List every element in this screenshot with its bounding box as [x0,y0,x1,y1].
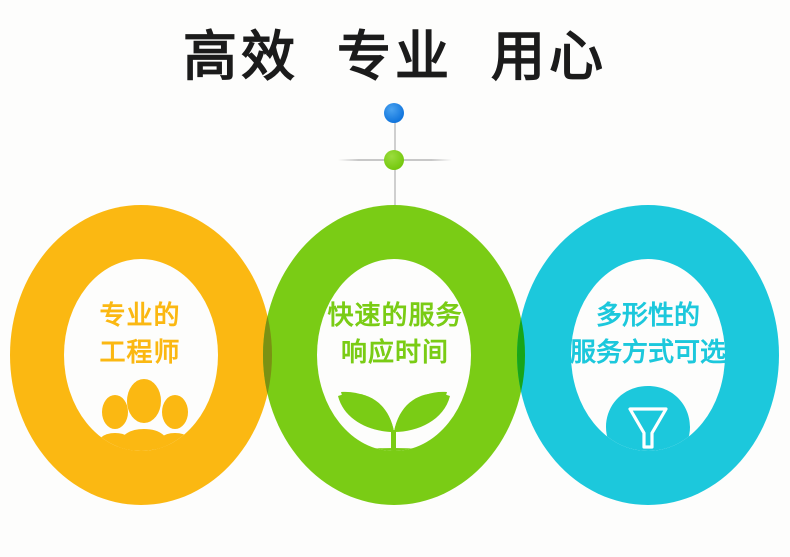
infographic-canvas: 高效专业用心 [0,0,790,557]
overlap-middle-right [0,0,790,557]
venn-diagram [0,0,790,557]
